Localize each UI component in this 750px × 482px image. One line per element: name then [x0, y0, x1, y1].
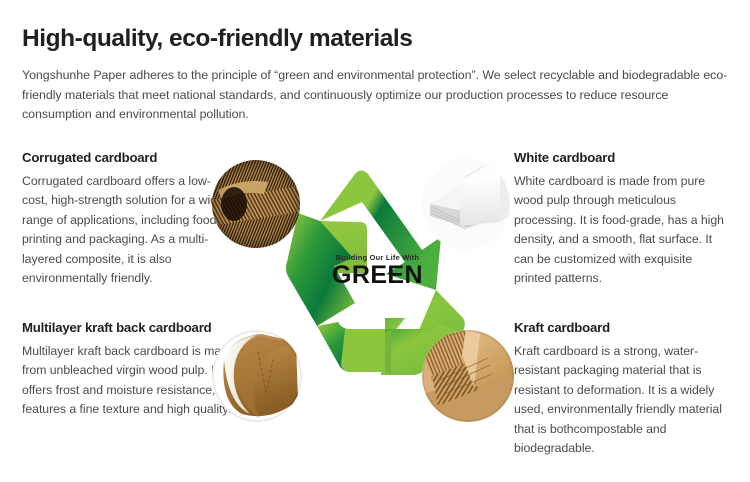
- corrugated-cardboard-photo: [212, 160, 300, 248]
- material-block-corrugated: Corrugated cardboard Corrugated cardboar…: [22, 150, 236, 288]
- multilayer-kraft-back-cardboard-photo: [212, 330, 302, 422]
- material-body-corrugated: Corrugated cardboard offers a low-cost, …: [22, 172, 236, 288]
- material-title-kraft: Kraft cardboard: [514, 320, 734, 335]
- intro-paragraph: Yongshunhe Paper adheres to the principl…: [22, 66, 734, 125]
- material-body-kraft: Kraft cardboard is a strong, water-resis…: [514, 342, 734, 458]
- material-title-white: White cardboard: [514, 150, 730, 165]
- recycle-arrow-top: [320, 171, 441, 291]
- white-cardboard-photo: [422, 158, 510, 250]
- material-body-white: White cardboard is made from pure wood p…: [514, 172, 730, 288]
- material-block-white: White cardboard White cardboard is made …: [514, 150, 730, 288]
- material-title-multilayer: Multilayer kraft back cardboard: [22, 320, 240, 335]
- kraft-cardboard-photo: [422, 330, 514, 422]
- material-body-multilayer: Multilayer kraft back cardboard is made …: [22, 342, 240, 420]
- material-block-multilayer: Multilayer kraft back cardboard Multilay…: [22, 320, 240, 420]
- material-title-corrugated: Corrugated cardboard: [22, 150, 236, 165]
- page-title: High-quality, eco-friendly materials: [22, 26, 412, 53]
- eco-materials-infographic: High-quality, eco-friendly materials Yon…: [0, 0, 750, 482]
- material-block-kraft: Kraft cardboard Kraft cardboard is a str…: [514, 320, 734, 458]
